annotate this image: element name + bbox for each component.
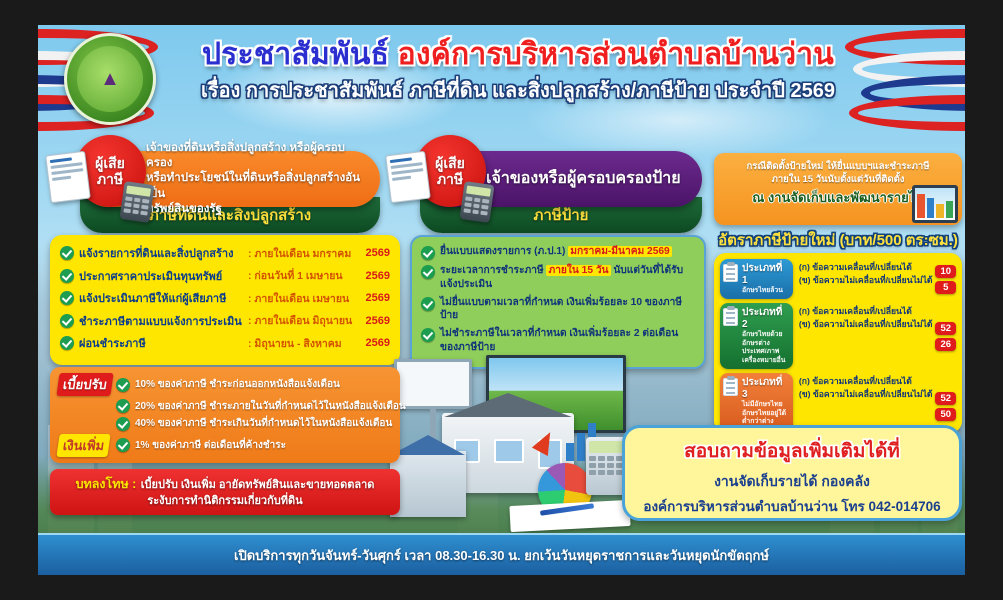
rate-type-sub: อักษรไทยด้วย อักษรต่างประเทศ/ภาพ เครื่อง… [742,331,789,365]
check-icon [421,297,435,311]
clipboard-icon [723,378,738,396]
calculator-illustration [586,437,626,495]
rate-type-title: ประเภทที่ 1 [742,263,789,286]
rate-table-title: อัตราภาษีป้ายใหม่ (บาท/500 ตร:ซม.) [714,228,962,252]
rate-type-2: ประเภทที่ 2 อักษรไทยด้วย อักษรต่างประเทศ… [720,303,793,369]
rate-value-b: 5 [935,281,956,294]
rate-values: 10 5 [935,259,956,299]
rate-values: 52 26 [935,303,956,369]
poster-canvas: ▲ ประชาสัมพันธ์ องค์การบริหารส่วนตำบลบ้า… [38,25,965,575]
punishment-line2: ระงับการทำนิติกรรมเกี่ยวกับที่ดิน [58,494,392,510]
schedule-label: แจ้งรายการที่ดินและสิ่งปลูกสร้าง [79,244,248,262]
payer-land-pill: ผู้เสีย ภาษี เจ้าของที่ดินหรือสิ่งปลูกสร… [80,151,380,207]
rate-item-b: (ข) ข้อความไม่เคลื่อนที่/เปลี่ยนไม่ได้ [799,274,933,287]
penalty-surcharge-item: 1% ของค่าภาษี ต่อเดือนที่ค้างชำระ [135,438,286,453]
check-icon [60,246,74,260]
sign-rule-row: ไม่ชำระภาษีในเวลาที่กำหนด เงินเพิ่มร้อยล… [421,327,695,355]
check-icon [60,269,74,283]
schedule-row: แจ้งประเมินภาษีให้แก่ผู้เสียภาษี : ภายใน… [60,289,390,307]
rate-item-a: (ก) ข้อความเคลื่อนที่/เปลี่ยนได้ [799,375,933,388]
sign-rule-row: ระยะเวลาการชำระภาษี ภายใน 15 วัน นับแต่ว… [421,264,695,292]
check-icon [421,265,435,279]
clipboard-icon [723,308,738,326]
schedule-row: ผ่อนชำระภาษี : มิถุนายน - สิงหาคม 2569 [60,334,390,352]
calculator-icon [120,181,155,223]
schedule-period: : ภายในเดือน มกราคม [248,245,356,262]
rate-row: ประเภทที่ 1 อักษรไทยล้วน (ก) ข้อความเคลื… [720,259,956,299]
payer-land-desc-line1: เจ้าของที่ดินหรือสิ่งปลูกสร้าง หรือผู้คร… [146,141,368,171]
schedule-period: : มิถุนายน - สิงหาคม [248,335,356,352]
schedule-label: ชำระภาษีตามแบบแจ้งการประเมิน [79,312,248,330]
notice-line1: กรณีติดตั้งป้ายใหม่ ให้ยื่นแบบฯและชำระภา… [722,160,954,173]
rate-item-a: (ก) ข้อความเคลื่อนที่/เปลี่ยนได้ [799,305,933,318]
schedule-period: : ก่อนวันที่ 1 เมษายน [248,267,356,284]
title-part-2: องค์การบริหารส่วนตำบลบ้านว่าน [398,38,834,71]
check-icon [116,378,130,392]
title-part-1: ประชาสัมพันธ์ [202,38,389,71]
check-icon [421,246,435,260]
sign-rule-text: ไม่ยื่นแบบตามเวลาที่กำหนด เงินเพิ่มร้อยล… [440,296,695,324]
payer-sign-desc-line1: เจ้าของหรือผู้ครอบครองป้าย [486,168,681,189]
schedule-label: ประกาศราคาประเมินทุนทรัพย์ [79,267,248,285]
rate-value-a: 10 [935,265,956,278]
rate-item-b: (ข) ข้อความไม่เคลื่อนที่/เปลี่ยนไม่ได้ [799,388,933,401]
contact-line1: งานจัดเก็บรายได้ กองคลัง [625,471,959,493]
illustration-collage [390,355,650,535]
document-icon [45,151,91,204]
punishment-bar: บทลงโทษ : เบี้ยปรับ เงินเพิ่ม อายัดทรัพย… [50,469,400,515]
check-icon [116,399,130,413]
poster-header: ▲ ประชาสัมพันธ์ องค์การบริหารส่วนตำบลบ้า… [38,25,965,135]
schedule-label: ผ่อนชำระภาษี [79,334,248,352]
page-title: ประชาสัมพันธ์ องค์การบริหารส่วนตำบลบ้านว… [158,39,878,71]
monitor-chart-icon [912,185,958,223]
footer-text: เปิดบริการทุกวันจันทร์-วันศุกร์ เวลา 08.… [234,545,769,566]
rate-item-b: (ข) ข้อความไม่เคลื่อนที่/เปลี่ยนไม่ได้ [799,318,933,331]
payer-sign-badge-line1: ผู้เสีย [435,155,465,171]
schedule-year: 2569 [356,270,390,282]
emblem-inner-graphic: ▲ [77,46,143,112]
calculator-icon [460,181,495,223]
schedule-row: แจ้งรายการที่ดินและสิ่งปลูกสร้าง : ภายใน… [60,244,390,262]
check-icon [60,314,74,328]
schedule-period: : ภายในเดือน มิถุนายน [248,312,356,329]
sign-rule-text: ไม่ชำระภาษีในเวลาที่กำหนด เงินเพิ่มร้อยล… [440,327,695,355]
schedule-period: : ภายในเดือน เมษายน [248,290,356,307]
check-icon [116,417,130,431]
small-house-illustration [390,451,466,517]
paper-document-illustration [509,500,630,532]
punishment-label: บทลงโทษ : [76,477,137,491]
sign-rule-text: ยื่นแบบแสดงรายการ (ภ.ป.1) มกราคม-มีนาคม … [440,245,695,260]
contact-line2: องค์การบริหารส่วนตำบลบ้านว่าน โทร 042-01… [625,495,959,517]
schedule-year: 2569 [356,247,390,259]
footer-bar: เปิดบริการทุกวันจันทร์-วันศุกร์ เวลา 08.… [38,533,965,575]
contact-title: สอบถามข้อมูลเพิ่มเติมได้ที่ [625,436,959,466]
payer-sign-badge-line2: ภาษี [437,171,463,187]
penalty-surcharge-tag: เงินเพิ่ม [56,434,110,457]
payer-sign-pill: ผู้เสีย ภาษี เจ้าของหรือผู้ครอบครองป้าย [420,151,702,207]
sign-rule-text: ระยะเวลาการชำระภาษี ภายใน 15 วัน นับแต่ว… [440,264,695,292]
penalty-row: 20% ของค่าภาษี ชำระภายในวันที่กำหนดไว้ใน… [58,399,392,414]
document-icon [385,151,431,204]
schedule-row: ประกาศราคาประเมินทุนทรัพย์ : ก่อนวันที่ … [60,267,390,285]
check-icon [60,336,74,350]
punishment-line1: เบี้ยปรับ เงินเพิ่ม อายัดทรัพย์สินและขาย… [141,479,375,491]
rate-type-sub: อักษรไทยล้วน [742,287,789,295]
penalty-row: เงินเพิ่ม 1% ของค่าภาษี ต่อเดือนที่ค้างช… [58,434,392,457]
schedule-year: 2569 [356,292,390,304]
payer-land-desc-line2: หรือทำประโยชน์ในที่ดินหรือสิ่งปลูกสร้างอ… [146,171,368,201]
organization-emblem-logo: ▲ [64,33,156,125]
penalty-surcharge-tag-wrap: เงินเพิ่ม [58,434,116,457]
rate-value-a: 52 [935,392,956,405]
penalty-row: 40% ของค่าภาษี ชำระเกินวันที่กำหนดไว้ในห… [58,416,392,431]
penalty-row: เบี้ยปรับ 10% ของค่าภาษี ชำระก่อนออกหนัง… [58,373,392,396]
penalty-fine-item: 20% ของค่าภาษี ชำระภายในวันที่กำหนดไว้ใน… [135,399,406,414]
payer-section-sign: ผู้เสีย ภาษี เจ้าของหรือผู้ครอบครองป้าย … [420,151,702,233]
payer-land-badge-line1: ผู้เสีย [95,155,125,171]
payer-land-badge-line2: ภาษี [97,171,123,187]
check-icon [421,328,435,342]
rate-type-title: ประเภทที่ 2 [742,307,789,330]
penalty-fine-tag-wrap: เบี้ยปรับ [58,373,116,396]
rate-type-1: ประเภทที่ 1 อักษรไทยล้วน [720,259,793,299]
schedule-year: 2569 [356,337,390,349]
land-tax-schedule-card: แจ้งรายการที่ดินและสิ่งปลูกสร้าง : ภายใน… [50,235,400,365]
rate-item-a: (ก) ข้อความเคลื่อนที่/เปลี่ยนได้ [799,261,933,274]
sign-rule-row: ยื่นแบบแสดงรายการ (ภ.ป.1) มกราคม-มีนาคม … [421,245,695,260]
clipboard-icon [723,264,738,282]
rate-value-b: 26 [935,338,956,351]
sign-rate-table-card: ประเภทที่ 1 อักษรไทยล้วน (ก) ข้อความเคลื… [714,253,962,433]
payer-section-land: ผู้เสีย ภาษี เจ้าของที่ดินหรือสิ่งปลูกสร… [80,151,380,233]
schedule-year: 2569 [356,315,390,327]
payer-land-description: เจ้าของที่ดินหรือสิ่งปลูกสร้าง หรือผู้คร… [146,141,368,217]
sign-tax-rules-card: ยื่นแบบแสดงรายการ (ภ.ป.1) มกราคม-มีนาคม … [410,235,706,369]
title-block: ประชาสัมพันธ์ องค์การบริหารส่วนตำบลบ้านว… [158,39,878,106]
payer-land-desc-line3: ทรัพย์สินของรัฐ [146,202,368,217]
rate-value-b: 50 [935,408,956,421]
rate-items: (ก) ข้อความเคลื่อนที่/เปลี่ยนได้ (ข) ข้อ… [793,303,936,369]
penalty-fine-item: 10% ของค่าภาษี ชำระก่อนออกหนังสือแจ้งเตื… [135,377,340,392]
check-icon [116,438,130,452]
penalty-fine-item: 40% ของค่าภาษี ชำระเกินวันที่กำหนดไว้ในห… [135,416,392,431]
contact-card: สอบถามข้อมูลเพิ่มเติมได้ที่ งานจัดเก็บรา… [622,425,962,521]
penalty-card: เบี้ยปรับ 10% ของค่าภาษี ชำระก่อนออกหนัง… [50,367,400,463]
rate-type-title: ประเภทที่ 3 [742,377,789,400]
check-icon [60,291,74,305]
new-sign-notice-box: กรณีติดตั้งป้ายใหม่ ให้ยื่นแบบฯและชำระภา… [714,153,962,225]
schedule-label: แจ้งประเมินภาษีให้แก่ผู้เสียภาษี [79,289,248,307]
rate-items: (ก) ข้อความเคลื่อนที่/เปลี่ยนได้ (ข) ข้อ… [793,259,936,299]
schedule-row: ชำระภาษีตามแบบแจ้งการประเมิน : ภายในเดือ… [60,312,390,330]
sign-rule-row: ไม่ยื่นแบบตามเวลาที่กำหนด เงินเพิ่มร้อยล… [421,296,695,324]
penalty-fine-tag: เบี้ยปรับ [56,373,113,396]
page-subtitle: เรื่อง การประชาสัมพันธ์ ภาษีที่ดิน และสิ… [158,74,878,106]
rate-value-a: 52 [935,322,956,335]
rate-row: ประเภทที่ 2 อักษรไทยด้วย อักษรต่างประเทศ… [720,303,956,369]
